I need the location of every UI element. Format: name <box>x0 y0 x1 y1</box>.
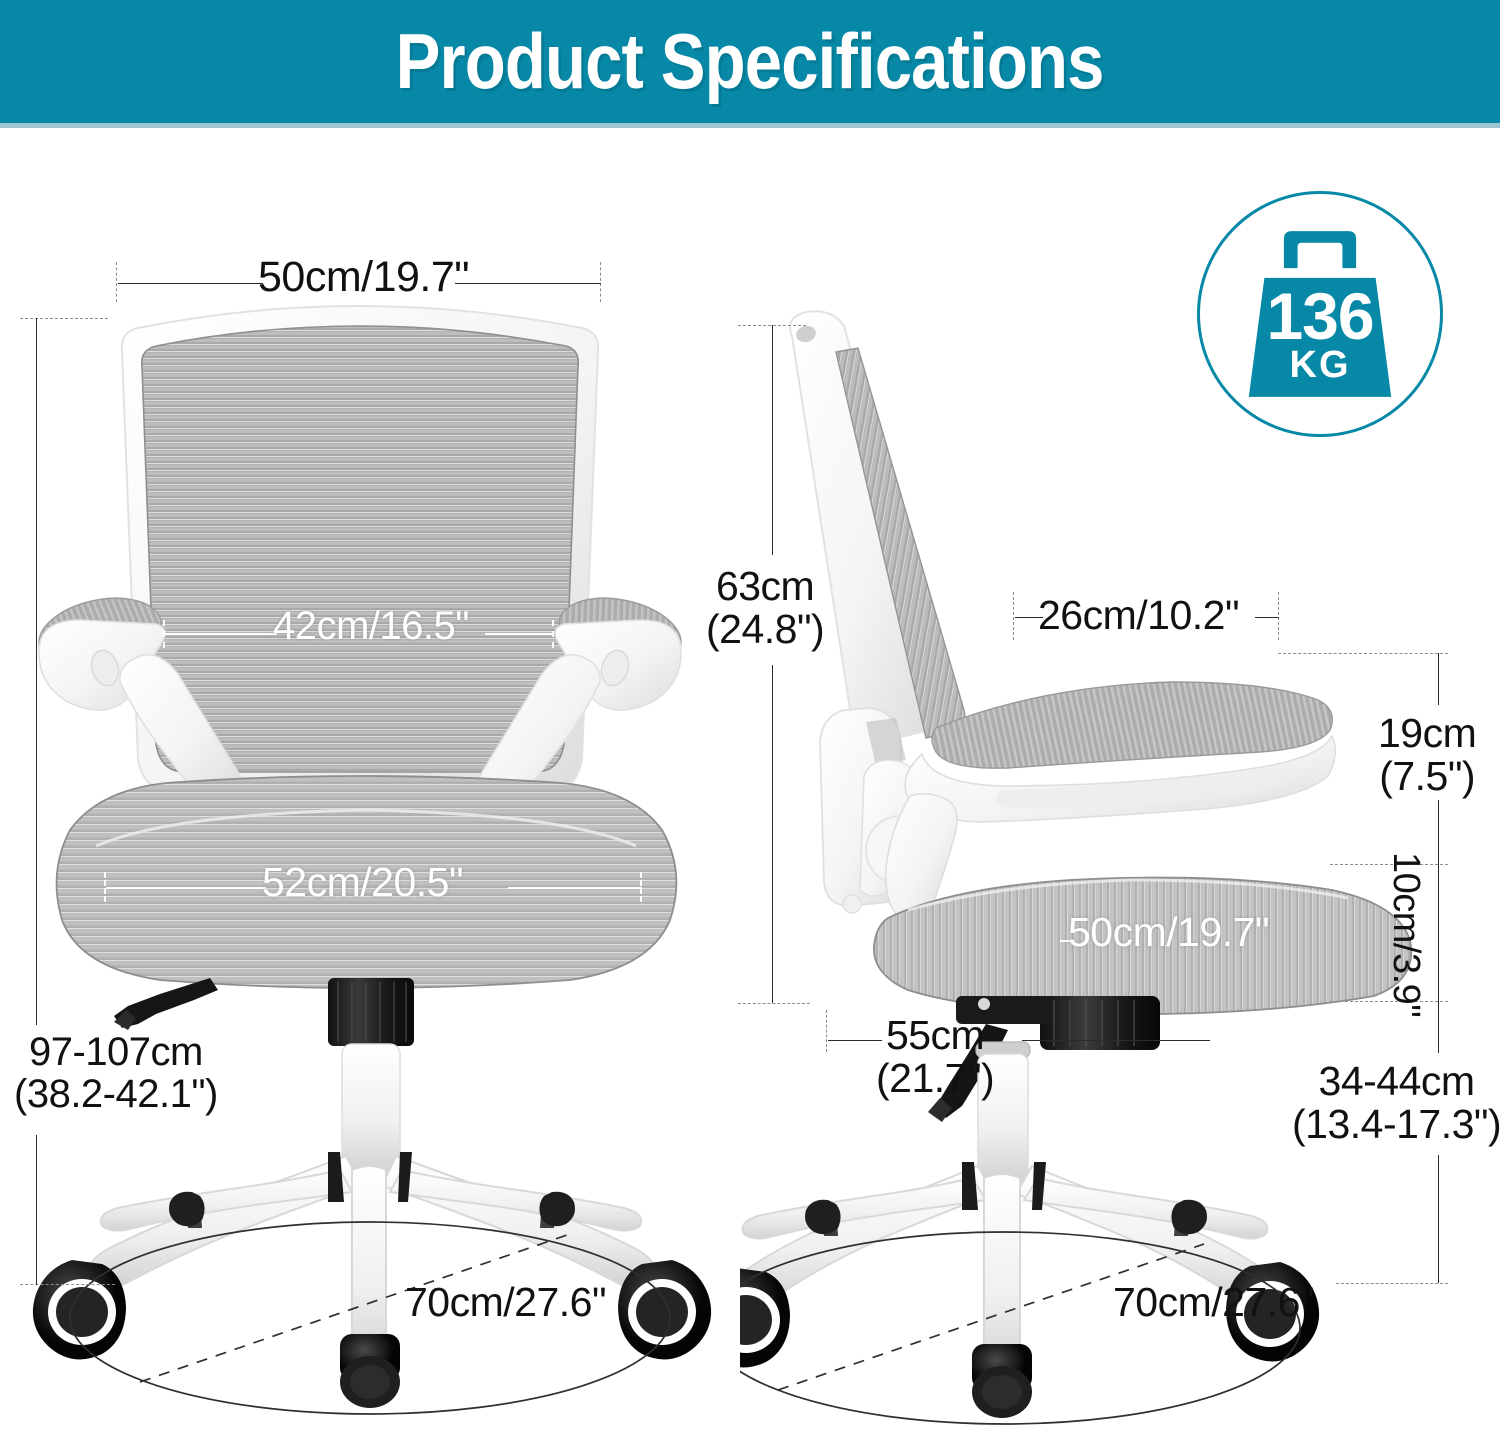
side-backrest-height-line1: 63cm <box>706 565 824 608</box>
side-backrest-height-line-lower <box>772 665 773 870</box>
front-backrest-width-label: 42cm/16.5" <box>273 606 469 648</box>
side-armrest-height-label: 19cm (7.5") <box>1378 712 1476 797</box>
caster-wheel-right <box>618 1260 711 1359</box>
side-armrest-height-line-upper <box>1438 653 1439 705</box>
side-backrest-bottom-guide <box>738 1003 810 1004</box>
front-seat-width-line-left <box>106 887 266 889</box>
front-seat-width-label: 52cm/20.5" <box>262 861 463 904</box>
front-height-line-lower <box>36 1135 37 1285</box>
header-underline <box>0 123 1500 128</box>
side-depth-line-left <box>828 1040 882 1041</box>
side-seat-thickness-line <box>1438 864 1439 1001</box>
product-specifications-page: Product Specifications 136 KG <box>0 0 1500 1450</box>
side-armrest-tick-right <box>1278 592 1279 640</box>
front-back-width-line-left <box>118 283 263 284</box>
front-height-bottom-guide <box>20 1284 115 1285</box>
side-armrest-height-line2: (7.5") <box>1378 755 1476 798</box>
side-depth-tick-left <box>826 1010 827 1052</box>
front-overall-height-line1: 97-107cm <box>14 1032 218 1074</box>
side-backrest-height-line2: (24.8") <box>706 608 824 651</box>
side-chair-depth-line2: (21.7") <box>876 1057 994 1100</box>
front-backrest-width-line-left <box>165 633 277 635</box>
side-backrest-height-line-base <box>772 870 773 1003</box>
front-backrest-width-line-right <box>485 633 553 635</box>
side-seat-height-line-lower <box>1438 1155 1439 1283</box>
caster-wheel-side-front <box>972 1344 1032 1418</box>
front-height-top-guide <box>20 318 108 319</box>
side-seat-height-label: 34-44cm (13.4-17.3") <box>1292 1060 1500 1145</box>
front-base-diameter-label: 70cm/27.6" <box>405 1281 606 1324</box>
front-back-width-tick-right <box>600 262 601 302</box>
side-armrest-line-right <box>1255 617 1279 618</box>
front-overall-height-label: 97-107cm (38.2-42.1") <box>14 1032 218 1115</box>
page-title: Product Specifications <box>396 16 1104 107</box>
front-back-width-tick-left <box>116 262 117 302</box>
tilt-adjust-lever <box>114 978 218 1030</box>
side-chair-depth-line1: 55cm <box>876 1014 994 1057</box>
page-header-banner: Product Specifications <box>0 0 1500 123</box>
side-seat-height-bottom-guide <box>1336 1283 1448 1284</box>
side-seat-depth-label: 50cm/19.7" <box>1068 911 1269 954</box>
side-armrest-height-line-lower <box>1438 800 1439 864</box>
front-back-width-label: 50cm/19.7" <box>258 255 469 300</box>
caster-wheel-left <box>33 1260 126 1359</box>
front-overall-height-line2: (38.2-42.1") <box>14 1074 218 1116</box>
side-depth-line-right <box>1022 1040 1210 1041</box>
caster-wheel-front <box>340 1334 400 1408</box>
side-seat-thickness-label: 10cm/3.9" <box>1385 852 1425 1017</box>
gas-cylinder <box>328 978 414 1174</box>
front-height-line <box>36 318 37 1025</box>
side-armrest-tick-left <box>1013 592 1014 640</box>
front-seat-width-line-right <box>508 887 642 889</box>
side-seat-height-line2: (13.4-17.3") <box>1292 1103 1500 1146</box>
chair-backrest-side <box>790 311 965 742</box>
side-chair-depth-label: 55cm (21.7") <box>876 1014 994 1099</box>
side-armrest-height-line1: 19cm <box>1378 712 1476 755</box>
side-armrest-right-guide <box>1278 653 1448 654</box>
side-backrest-height-label: 63cm (24.8") <box>706 565 824 650</box>
side-backrest-height-line-upper <box>772 325 773 555</box>
caster-wheel-side-rear-left <box>805 1200 841 1235</box>
side-armrest-length-label: 26cm/10.2" <box>1038 594 1239 637</box>
office-chair-side-view <box>740 290 1460 1440</box>
side-seat-height-line-upper <box>1438 1001 1439 1053</box>
front-back-width-line-right <box>455 283 601 284</box>
side-base-diameter-label: 70cm/27.6" <box>1113 1281 1314 1324</box>
side-seat-height-line1: 34-44cm <box>1292 1060 1500 1103</box>
